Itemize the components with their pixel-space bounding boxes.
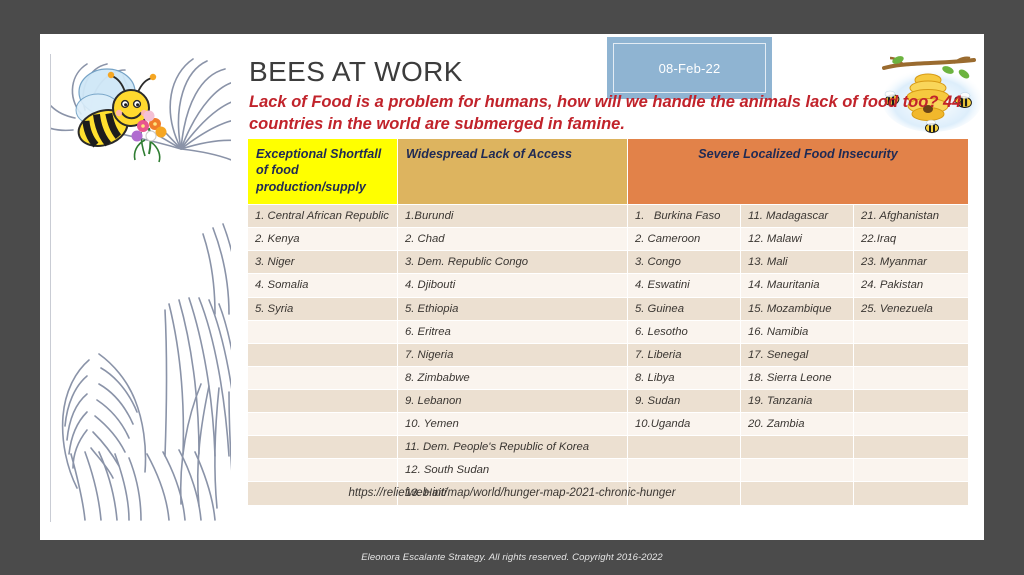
table-cell: 5. Guinea	[628, 297, 741, 320]
table-cell: 1.Burundi	[398, 205, 628, 228]
table-row: 4. Somalia4. Djibouti4. Eswatini14. Maur…	[248, 274, 969, 297]
table-row: 2. Kenya2. Chad2. Cameroon12. Malawi22.I…	[248, 228, 969, 251]
table-row: 10. Yemen10.Uganda20. Zambia	[248, 413, 969, 436]
table-cell: 7. Nigeria	[398, 343, 628, 366]
table-cell: 23. Myanmar	[854, 251, 969, 274]
table-row: 8. Zimbabwe8. Libya18. Sierra Leone	[248, 366, 969, 389]
table-cell	[854, 413, 969, 436]
table-cell: 1. Burkina Faso	[628, 205, 741, 228]
table-cell: 19. Tanzania	[741, 389, 854, 412]
table-cell	[248, 343, 398, 366]
slide-title: BEES AT WORK	[249, 56, 463, 88]
header-severe-localized-food-insecurity: Severe Localized Food Insecurity	[628, 139, 969, 205]
table-cell: 25. Venezuela	[854, 297, 969, 320]
table-cell: 3. Niger	[248, 251, 398, 274]
table-cell: 17. Senegal	[741, 343, 854, 366]
famine-countries-table: Exceptional Shortfall of food production…	[247, 138, 969, 506]
table-cell	[248, 320, 398, 343]
table-row: 1. Central African Republic1.Burundi1. B…	[248, 205, 969, 228]
header-exceptional-shortfall: Exceptional Shortfall of food production…	[248, 139, 398, 205]
table-cell: 9. Lebanon	[398, 389, 628, 412]
copyright-notice: Eleonora Escalante Strategy. All rights …	[0, 552, 1024, 563]
table-cell	[854, 343, 969, 366]
table-cell: 2. Chad	[398, 228, 628, 251]
table-cell: 8. Zimbabwe	[398, 366, 628, 389]
table-cell	[248, 366, 398, 389]
slide-canvas: BEES AT WORK 08-Feb-22 Lack of Food is a…	[40, 34, 984, 540]
table-row: 6. Eritrea6. Lesotho16. Namibia	[248, 320, 969, 343]
table-cell	[628, 459, 741, 482]
table-cell	[741, 436, 854, 459]
table-row: 11. Dem. People's Republic of Korea	[248, 436, 969, 459]
table-cell: 5. Syria	[248, 297, 398, 320]
table-cell: 2. Cameroon	[628, 228, 741, 251]
table-cell: 10. Yemen	[398, 413, 628, 436]
table-cell: 8. Libya	[628, 366, 741, 389]
table-cell: 21. Afghanistan	[854, 205, 969, 228]
table-cell: 20. Zambia	[741, 413, 854, 436]
table-cell	[854, 436, 969, 459]
floral-line-art-panel	[50, 54, 231, 522]
table-cell: 4. Djibouti	[398, 274, 628, 297]
table-cell	[248, 436, 398, 459]
table-cell: 3. Dem. Republic Congo	[398, 251, 628, 274]
table-cell: 12. South Sudan	[398, 459, 628, 482]
table-cell: 10.Uganda	[628, 413, 741, 436]
table-cell	[741, 459, 854, 482]
table-cell	[854, 320, 969, 343]
table-row: 7. Nigeria7. Liberia17. Senegal	[248, 343, 969, 366]
table-cell: 7. Liberia	[628, 343, 741, 366]
table-cell	[854, 389, 969, 412]
table-cell: 14. Mauritania	[741, 274, 854, 297]
date-badge: 08-Feb-22	[607, 37, 772, 99]
table-cell: 13. Mali	[741, 251, 854, 274]
table-cell: 4. Somalia	[248, 274, 398, 297]
table-cell: 9. Sudan	[628, 389, 741, 412]
table-cell: 2. Kenya	[248, 228, 398, 251]
date-badge-label: 08-Feb-22	[659, 61, 721, 76]
table-cell	[854, 366, 969, 389]
table-cell	[248, 389, 398, 412]
table-cell: 24. Pakistan	[854, 274, 969, 297]
table-cell: 6. Lesotho	[628, 320, 741, 343]
table-cell: 4. Eswatini	[628, 274, 741, 297]
table-cell: 5. Ethiopia	[398, 297, 628, 320]
table-cell: 11. Dem. People's Republic of Korea	[398, 436, 628, 459]
table-cell	[248, 413, 398, 436]
table-row: 3. Niger3. Dem. Republic Congo3. Congo13…	[248, 251, 969, 274]
table-cell: 16. Namibia	[741, 320, 854, 343]
table-cell: 1. Central African Republic	[248, 205, 398, 228]
table-cell	[628, 436, 741, 459]
table-cell	[854, 459, 969, 482]
table-header-row: Exceptional Shortfall of food production…	[248, 139, 969, 205]
table-cell	[248, 459, 398, 482]
table-cell: 6. Eritrea	[398, 320, 628, 343]
table-cell: 22.Iraq	[854, 228, 969, 251]
slide-subtitle: Lack of Food is a problem for humans, ho…	[249, 92, 984, 136]
table-row: 12. South Sudan	[248, 459, 969, 482]
table-cell: 3. Congo	[628, 251, 741, 274]
table-cell: 12. Malawi	[741, 228, 854, 251]
table-cell: 15. Mozambique	[741, 297, 854, 320]
table-row: 9. Lebanon9. Sudan19. Tanzania	[248, 389, 969, 412]
table-cell: 18. Sierra Leone	[741, 366, 854, 389]
table-cell: 11. Madagascar	[741, 205, 854, 228]
source-url[interactable]: https://reliefweb.int/map/world/hunger-m…	[40, 487, 984, 499]
table-row: 5. Syria5. Ethiopia5. Guinea15. Mozambiq…	[248, 297, 969, 320]
header-widespread-lack-of-access: Widespread Lack of Access	[398, 139, 628, 205]
